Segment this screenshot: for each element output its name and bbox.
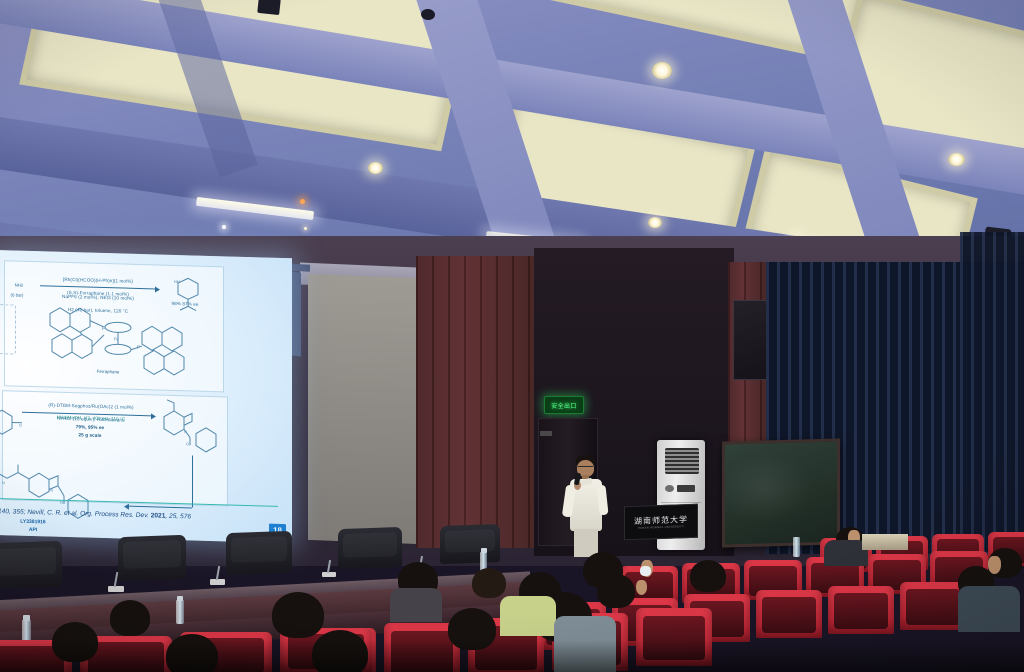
- audience-member-head: [472, 568, 506, 598]
- head-table-chair[interactable]: [0, 541, 62, 589]
- ceiling-downlight: [368, 162, 383, 174]
- final-arrow: [128, 506, 192, 509]
- citation-year: 2021: [151, 512, 166, 519]
- svg-text:N: N: [2, 480, 5, 485]
- head-table-chair[interactable]: [226, 531, 292, 575]
- ac-vent-grille: [665, 448, 699, 474]
- foreground-shadow: [0, 640, 1024, 672]
- audience-member-head: [690, 560, 726, 592]
- auditorium-seat[interactable]: [900, 582, 966, 630]
- svg-text:O: O: [186, 441, 189, 446]
- ceiling-spotlight: [304, 227, 307, 230]
- auditorium-seat[interactable]: [828, 586, 894, 634]
- ceiling-projector-mount: [257, 0, 281, 15]
- api-compound-id: LY3381916: [20, 519, 45, 526]
- stage-curtain: [960, 232, 1024, 552]
- screen-mount-bracket: [291, 271, 301, 356]
- slide-content-area: byproduct NH2 (6 bar) [Rh(Cl)(HCOO)(H-Ph…: [0, 254, 292, 507]
- svg-text:N: N: [184, 429, 187, 434]
- blackboard: [722, 438, 840, 547]
- product-structure-top: NH: [164, 277, 212, 312]
- mic-base: [108, 586, 124, 592]
- water-bottle: [176, 600, 184, 624]
- door-sign: [540, 431, 552, 436]
- stacked-boxes: [862, 534, 908, 550]
- api-name-label: LY3381916 API: [0, 518, 68, 535]
- svg-text:P: P: [137, 345, 141, 351]
- svg-text:Fe: Fe: [114, 336, 119, 341]
- audience-member-head: [597, 574, 635, 608]
- audience-member-head: [272, 592, 324, 638]
- audience-member-face: [636, 580, 647, 595]
- audience-member-shoulders: [390, 588, 442, 622]
- bottle-cap: [23, 615, 30, 621]
- ceiling-downlight: [648, 217, 662, 228]
- audience-member-face: [988, 556, 1001, 574]
- substrate-amine-label: NH2: [4, 282, 34, 288]
- ac-control-panel: [677, 485, 695, 492]
- audience-member-shoulders: [958, 586, 1020, 632]
- seat-cushion: [834, 593, 888, 629]
- bottle-cap: [481, 548, 487, 553]
- citation-suffix: , 25, 576: [165, 513, 191, 521]
- cond-line-1: [Rh(Cl)(HCOO)(H-Ph)n](1 mol%): [63, 277, 133, 284]
- ceiling-downlight: [948, 153, 965, 166]
- svg-text:O: O: [19, 423, 22, 428]
- ligand-structure-drawing: P Fe P: [38, 299, 188, 389]
- head-table-chair[interactable]: [118, 535, 186, 581]
- svg-text:NH: NH: [174, 279, 180, 284]
- ac-display: [665, 485, 674, 492]
- bottle-cap: [177, 596, 183, 601]
- byproduct-callout: [0, 303, 16, 355]
- head-table-chair[interactable]: [338, 527, 402, 569]
- product-structure-bottom: N O: [156, 398, 224, 456]
- audience-member-shoulders: [500, 596, 556, 636]
- ceiling-spotlight: [222, 225, 226, 229]
- presentation-slide: byproduct NH2 (6 bar) [Rh(Cl)(HCOO)(H-Ph…: [0, 250, 292, 543]
- downward-arrow: [192, 455, 193, 507]
- venue-banner: 湖南师范大学 HUNAN NORMAL UNIVERSITY: [624, 504, 698, 541]
- byproduct-label: byproduct: [0, 353, 14, 359]
- seat-cushion: [906, 589, 960, 625]
- exit-sign: 安全出口: [544, 396, 584, 414]
- exit-sign-label: 安全出口: [551, 401, 577, 410]
- mic-base: [322, 572, 336, 577]
- wood-wall: [416, 256, 538, 548]
- head-table-chair[interactable]: [440, 524, 500, 564]
- acoustic-wall-panel: [308, 274, 420, 544]
- presenter-arm-right: [596, 485, 608, 516]
- lecture-hall-photo: 安全出口 湖南师范大学 HUNAN NORMAL UNIVERSITY bypr…: [0, 0, 1024, 672]
- seat-cushion: [762, 597, 816, 633]
- presenter: [560, 455, 620, 565]
- audience-member-head: [110, 600, 150, 636]
- wall-speaker: [733, 300, 769, 380]
- venue-banner-subtitle: HUNAN NORMAL UNIVERSITY: [638, 525, 684, 530]
- ceiling-downlight: [652, 62, 672, 79]
- pressure-note: (6 bar): [0, 292, 34, 298]
- face-mask: [640, 566, 651, 576]
- projection-screen: byproduct NH2 (6 bar) [Rh(Cl)(HCOO)(H-Ph…: [0, 250, 292, 543]
- auditorium-seat[interactable]: [756, 590, 822, 638]
- water-bottle: [793, 537, 800, 557]
- api-tag: API: [29, 526, 37, 532]
- svg-text:N: N: [50, 488, 53, 493]
- substrate-structure-bottom: O: [0, 406, 30, 441]
- mic-gooseneck: [216, 566, 220, 580]
- presenter-glasses: [578, 466, 593, 467]
- ceiling-spotlight: [300, 199, 305, 204]
- cond-b-line-1: (R)-DTBM-Segphos/Ru(OAc)2 (1 mol%): [48, 402, 133, 409]
